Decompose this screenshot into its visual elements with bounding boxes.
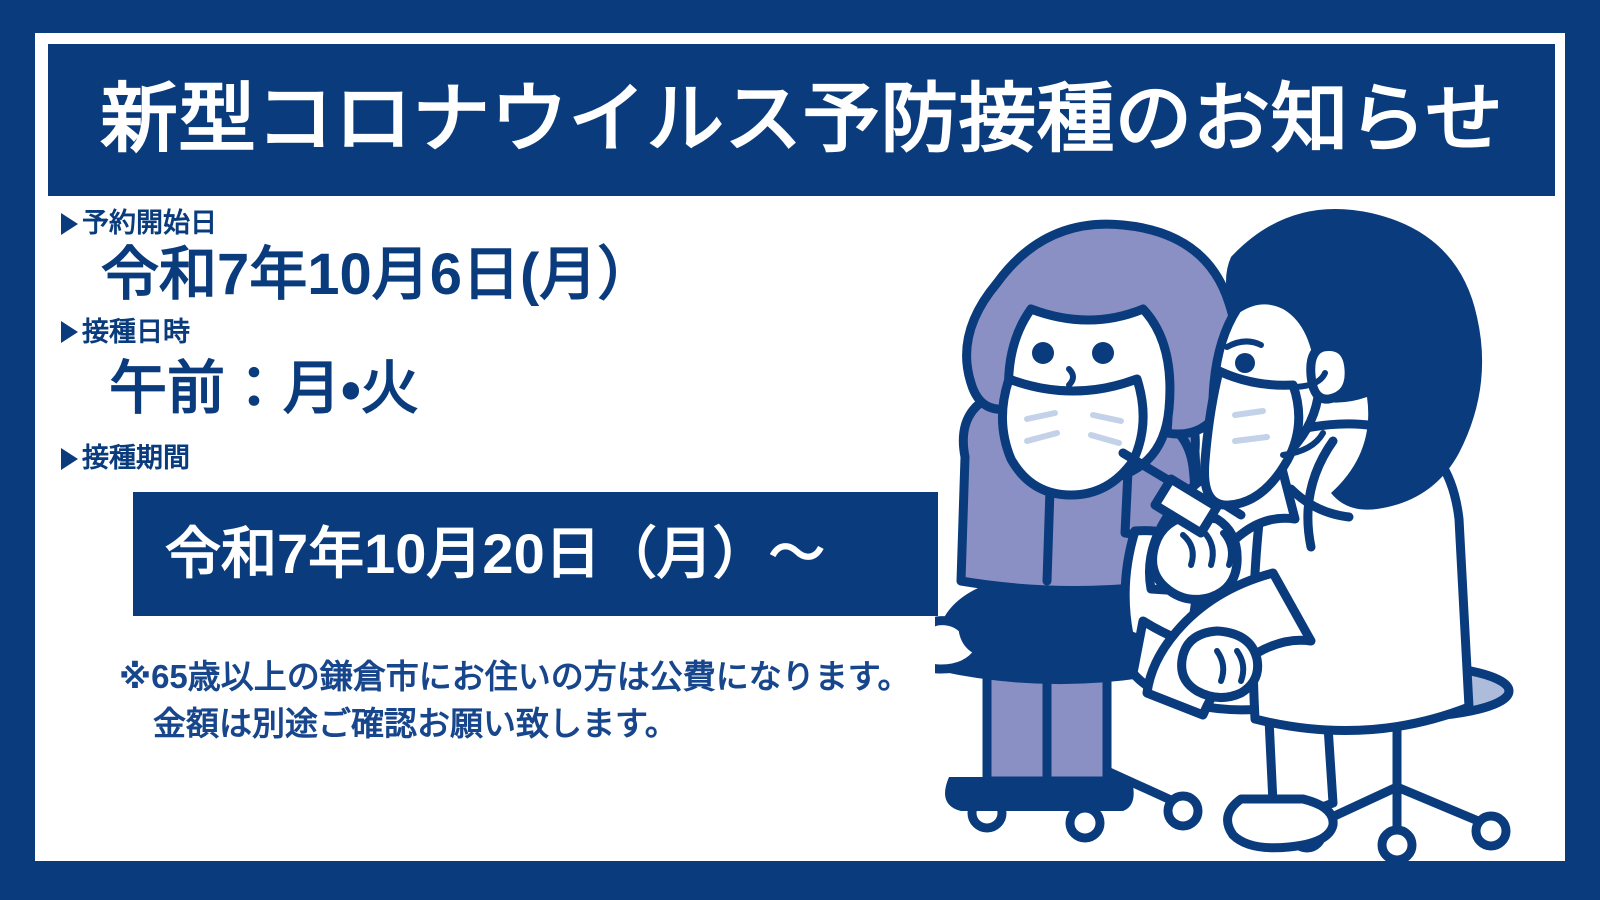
triangle-bullet-icon <box>61 213 78 235</box>
mask-pleat <box>1235 437 1267 441</box>
patient-eye-left <box>1032 342 1054 364</box>
poster-inner-sheet: 新型コロナウイルス予防接種のお知らせ 予約開始日 令和7年10月6日(月） 接種… <box>35 33 1565 861</box>
value-period: 令和7年10月20日（月）〜 <box>133 526 825 582</box>
caster-wheel <box>1168 796 1198 826</box>
patient-shoe-right <box>1046 777 1134 811</box>
nurse-ear <box>1311 346 1349 399</box>
mask-pleat <box>1235 411 1263 415</box>
vaccination-illustration: .nv { fill: #0a3c7d; } .ln { fill: none;… <box>935 201 1555 861</box>
patient-eye-right <box>1092 342 1114 364</box>
period-highlight-box: 令和7年10月20日（月）〜 <box>133 492 938 616</box>
caster-wheel <box>1070 808 1100 838</box>
nurse-eye <box>1235 353 1255 373</box>
caster-wheel <box>1382 830 1412 860</box>
label-period: 接種期間 <box>61 444 961 474</box>
value-schedule: 午前：月・火 <box>61 359 961 420</box>
triangle-bullet-icon <box>61 321 78 343</box>
caster-wheel <box>1476 816 1506 846</box>
poster-root: 新型コロナウイルス予防接種のお知らせ 予約開始日 令和7年10月6日(月） 接種… <box>0 0 1600 900</box>
label-schedule-text: 接種日時 <box>82 318 190 348</box>
footnote: ※65歳以上の鎌倉市にお住いの方は公費になります。 金額は別途ご確認お願い致しま… <box>119 654 961 748</box>
label-period-text: 接種期間 <box>82 444 190 474</box>
value-reservation-start: 令和7年10月6日(月） <box>61 245 961 306</box>
nurse-hand-support <box>1182 631 1258 698</box>
patient-mask <box>1002 379 1143 495</box>
nurse-shoe <box>1228 799 1334 848</box>
footnote-line-2: 金額は別途ご確認お願い致します。 <box>119 701 961 748</box>
page-title: 新型コロナウイルス予防接種のお知らせ <box>100 82 1503 158</box>
title-banner: 新型コロナウイルス予防接種のお知らせ <box>48 44 1555 196</box>
label-schedule: 接種日時 <box>61 318 961 348</box>
triangle-bullet-icon <box>61 448 78 470</box>
information-column: 予約開始日 令和7年10月6日(月） 接種日時 午前：月・火 接種期間 令和7年… <box>61 209 961 748</box>
label-reservation-start: 予約開始日 <box>61 209 961 239</box>
vaccination-illustration-svg: .nv { fill: #0a3c7d; } .ln { fill: none;… <box>935 201 1555 861</box>
footnote-line-1: ※65歳以上の鎌倉市にお住いの方は公費になります。 <box>119 654 961 701</box>
label-reservation-start-text: 予約開始日 <box>82 209 217 239</box>
